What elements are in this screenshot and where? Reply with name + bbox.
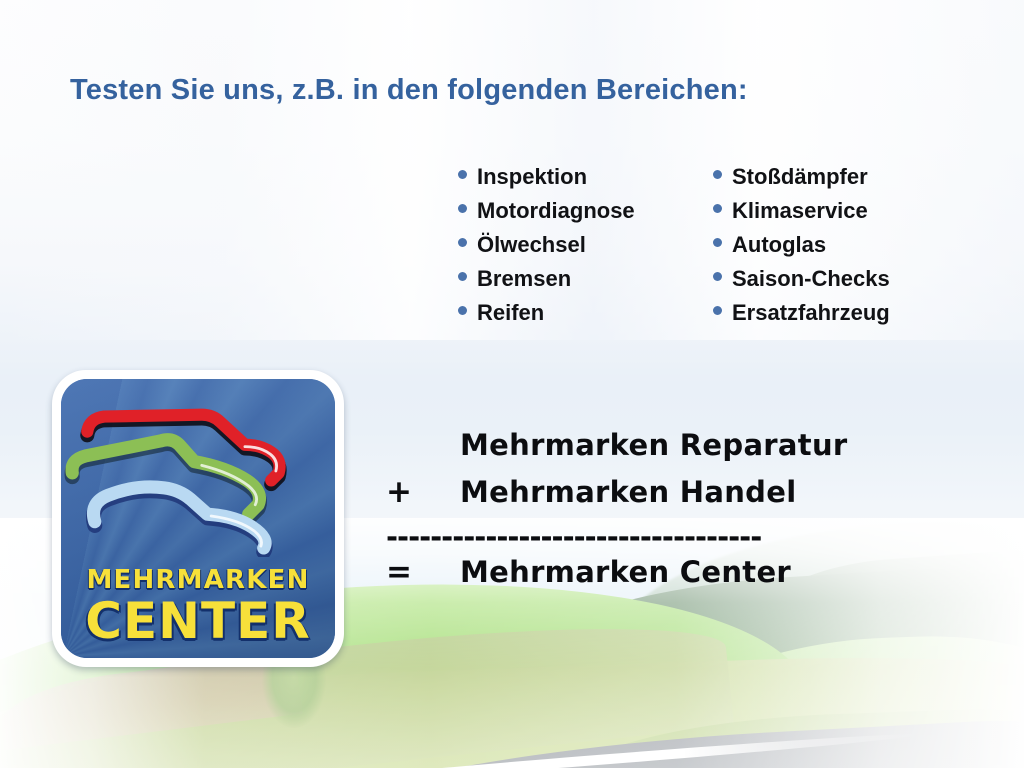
equation-term: Mehrmarken Reparatur	[460, 428, 848, 462]
bullet-dot-icon	[458, 306, 467, 315]
bullet-dot-icon	[458, 170, 467, 179]
bullet-dot-icon	[458, 272, 467, 281]
service-label: Saison-Checks	[732, 266, 890, 292]
services-columns: Inspektion Motordiagnose Ölwechsel Brems…	[458, 164, 890, 334]
service-label: Motordiagnose	[477, 198, 635, 224]
service-label: Klimaservice	[732, 198, 868, 224]
service-label: Bremsen	[477, 266, 571, 292]
service-label: Autoglas	[732, 232, 826, 258]
bullet-dot-icon	[458, 238, 467, 247]
bullet-dot-icon	[458, 204, 467, 213]
logo-panel: MEHRMARKEN CENTER	[61, 379, 335, 658]
list-item: Ersatzfahrzeug	[713, 300, 890, 334]
service-label: Ölwechsel	[477, 232, 586, 258]
list-item: Autoglas	[713, 232, 890, 266]
logo-line-1: MEHRMARKEN	[61, 567, 335, 593]
equation-operator: =	[386, 554, 460, 590]
list-item: Inspektion	[458, 164, 713, 198]
list-item: Klimaservice	[713, 198, 890, 232]
bullet-dot-icon	[713, 170, 722, 179]
logo-car-graphics	[61, 385, 335, 557]
equation-result-row: = Mehrmarken Center	[386, 554, 896, 600]
equation-divider: ----------------------------------	[386, 520, 896, 554]
list-item: Saison-Checks	[713, 266, 890, 300]
services-left-column: Inspektion Motordiagnose Ölwechsel Brems…	[458, 164, 713, 334]
bullet-dot-icon	[713, 306, 722, 315]
equation-term: Mehrmarken Handel	[460, 475, 796, 509]
equation-result-term: Mehrmarken Center	[460, 555, 791, 589]
bullet-dot-icon	[713, 272, 722, 281]
bullet-dot-icon	[713, 204, 722, 213]
equation-row-1: Mehrmarken Reparatur	[386, 428, 896, 474]
list-item: Ölwechsel	[458, 232, 713, 266]
car-outline-lightblue-icon	[93, 487, 265, 552]
service-label: Ersatzfahrzeug	[732, 300, 890, 326]
equation-block: Mehrmarken Reparatur + Mehrmarken Handel…	[386, 428, 896, 600]
service-label: Stoßdämpfer	[732, 164, 868, 190]
slide: Testen Sie uns, z.B. in den folgenden Be…	[0, 0, 1024, 768]
mehrmarken-center-logo: MEHRMARKEN CENTER	[52, 370, 344, 667]
service-label: Inspektion	[477, 164, 587, 190]
list-item: Motordiagnose	[458, 198, 713, 232]
list-item: Stoßdämpfer	[713, 164, 890, 198]
logo-wordmark: MEHRMARKEN CENTER	[61, 567, 335, 646]
logo-line-2: CENTER	[61, 596, 335, 646]
services-right-column: Stoßdämpfer Klimaservice Autoglas Saison…	[713, 164, 890, 334]
equation-operator: +	[386, 474, 460, 510]
list-item: Reifen	[458, 300, 713, 334]
list-item: Bremsen	[458, 266, 713, 300]
page-title: Testen Sie uns, z.B. in den folgenden Be…	[70, 74, 748, 107]
bullet-dot-icon	[713, 238, 722, 247]
equation-row-2: + Mehrmarken Handel	[386, 474, 896, 520]
service-label: Reifen	[477, 300, 544, 326]
